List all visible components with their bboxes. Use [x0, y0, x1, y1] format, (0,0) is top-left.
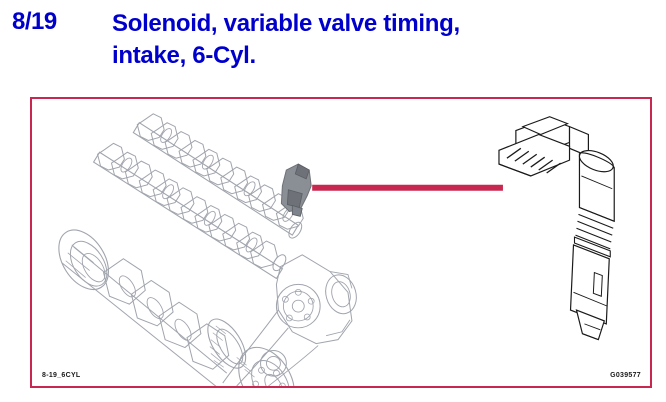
figure-caption-left: 8-19_6CYL	[42, 372, 81, 379]
technical-illustration	[32, 99, 650, 386]
figure-code-right: G039577	[610, 372, 641, 379]
solenoid-connector	[499, 117, 588, 176]
timing-sprocket	[223, 255, 361, 386]
illustration-frame: 8-19_6CYL G039577	[30, 97, 652, 388]
exhaust-camshaft	[133, 114, 304, 241]
page-title-line-1: Solenoid, variable valve timing,	[112, 8, 632, 40]
page-title-line-2: intake, 6-Cyl.	[112, 40, 632, 72]
title-block: 8/19 Solenoid, variable valve timing, in…	[0, 0, 666, 92]
page-title: Solenoid, variable valve timing, intake,…	[112, 8, 632, 72]
mounted-solenoid	[281, 164, 311, 216]
page-number: 8/19	[12, 8, 57, 36]
solenoid-detail	[499, 117, 616, 340]
crankshaft	[49, 221, 306, 386]
